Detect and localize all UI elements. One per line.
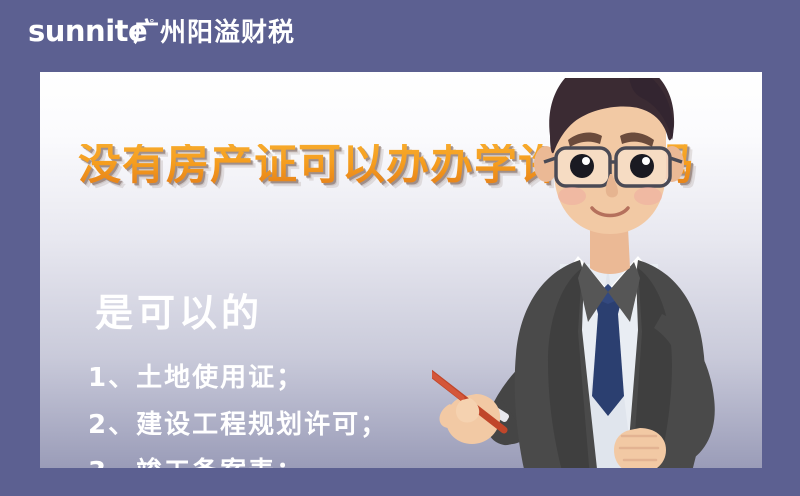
list-item: 2、建设工程规划许可； — [88, 412, 388, 438]
right-arm-group — [614, 314, 715, 468]
businessman-illustration — [432, 78, 762, 468]
answer-subtitle: 是可以的 — [95, 293, 263, 335]
brand-company-name: 广州阳溢财税 — [133, 18, 295, 49]
list-item: 3、竣工备案表； — [88, 459, 388, 468]
left-arm-group — [432, 332, 598, 445]
requirements-list: 1、土地使用证； 2、建设工程规划许可； 3、竣工备案表； — [88, 365, 388, 468]
brand-wordmark: sunnite — [28, 17, 147, 46]
list-item: 1、土地使用证； — [88, 365, 388, 391]
content-card: 没有房产证可以办办学许可证吗 是可以的 1、土地使用证； 2、建设工程规划许可；… — [40, 72, 762, 468]
poster-canvas: sunnite ° 广州阳溢财税 没有房产证可以办办学许可证吗 是可以的 1、土… — [0, 0, 800, 496]
torso-group — [515, 256, 705, 468]
page-title: 没有房产证可以办办学许可证吗 — [78, 144, 738, 187]
brand-header: sunnite ° 广州阳溢财税 — [0, 0, 800, 72]
